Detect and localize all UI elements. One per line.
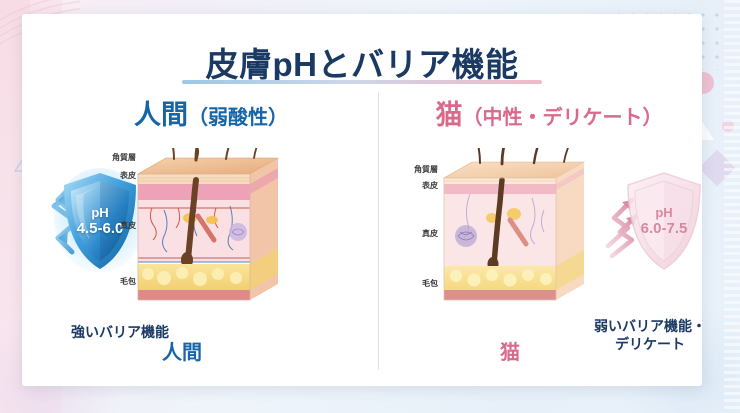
human-species-caption: 人間 [72,336,292,365]
cat-skin-cross-section [436,148,586,306]
background-stripes-right [724,0,740,413]
panel-cat-heading-paren: （中性・デリケート） [463,107,663,129]
panel-cat: 猫（中性・デリケート） 角質層 表皮 真皮 毛包 [384,96,714,376]
cat-barrier-text-line1: 弱いバリア機能・ [580,318,720,336]
panel-cat-heading: 猫（中性・デリケート） [384,102,714,129]
panel-cat-heading-main: 猫 [436,100,463,130]
cat-diagram-row: 角質層 表皮 真皮 毛包 [384,148,714,308]
panel-human-heading-main: 人間 [134,100,188,130]
cat-shield: pH 6.0-7.5 [618,168,710,276]
human-diagram-row: pH 4.5-6.0 角質層 表皮 真皮 毛包 [46,148,376,308]
panel-human: 人間（弱酸性） [46,96,376,376]
cat-layer-label-0: 角質層 [414,164,438,175]
shield-icon [618,168,710,276]
human-skin-cross-section [130,148,280,306]
panel-human-heading-paren: （弱酸性） [188,107,288,129]
panel-human-heading: 人間（弱酸性） [46,102,376,129]
title-underline [182,80,542,84]
cat-layer-labels: 角質層 表皮 真皮 毛包 [398,148,438,306]
content-card: 皮膚pHとバリア機能 人間（弱酸性） [22,14,702,386]
page-title: 皮膚pHとバリア機能 [22,38,702,86]
cat-species-caption: 猫 [400,336,620,365]
slide-canvas: 皮膚pHとバリア機能 人間（弱酸性） [0,0,740,413]
column-divider [378,92,379,370]
